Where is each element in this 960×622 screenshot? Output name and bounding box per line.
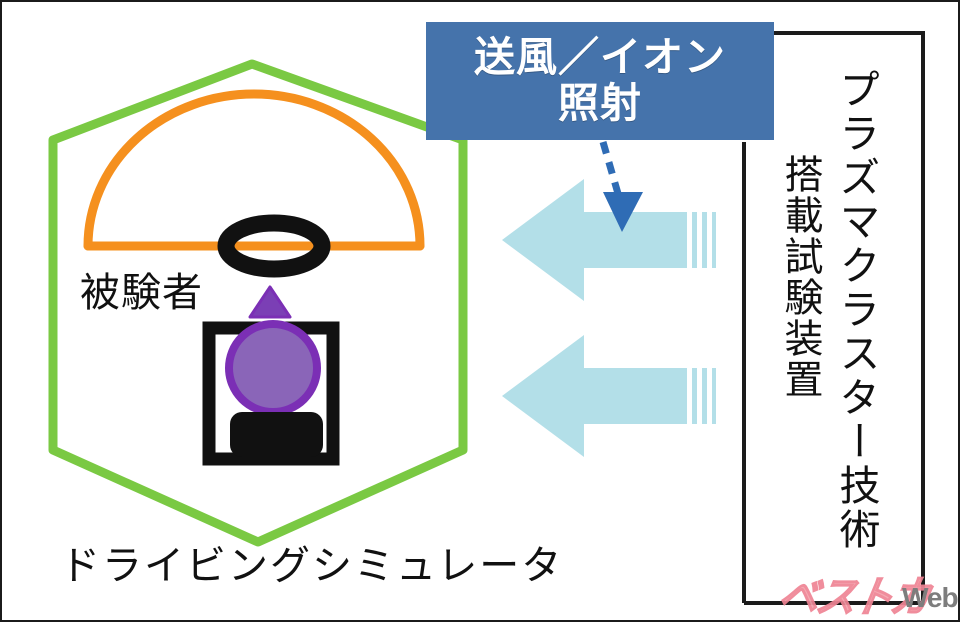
seat-cushion: [230, 412, 323, 457]
label-driving-simulator: ドライビングシミュレータ: [60, 546, 563, 586]
figure-root: 送風／イオン 照射 被験者 ドライビングシミュレータ プラズマクラスター技術 搭…: [0, 0, 960, 622]
subject-head: [229, 324, 317, 412]
vertical-label-test-device: 搭載試験装置: [772, 154, 828, 400]
callout-box-airflow-ion[interactable]: 送風／イオン 照射: [426, 22, 774, 140]
callout-line-1: 送風／イオン: [474, 35, 726, 81]
airflow-arrow-lower: [502, 335, 716, 457]
vertical-label-plasmacluster-technology: プラズマクラスター技術: [826, 68, 886, 552]
head-antenna-triangle: [250, 287, 290, 317]
label-test-subject: 被験者: [80, 273, 203, 313]
callout-line-2: 照射: [558, 81, 642, 127]
